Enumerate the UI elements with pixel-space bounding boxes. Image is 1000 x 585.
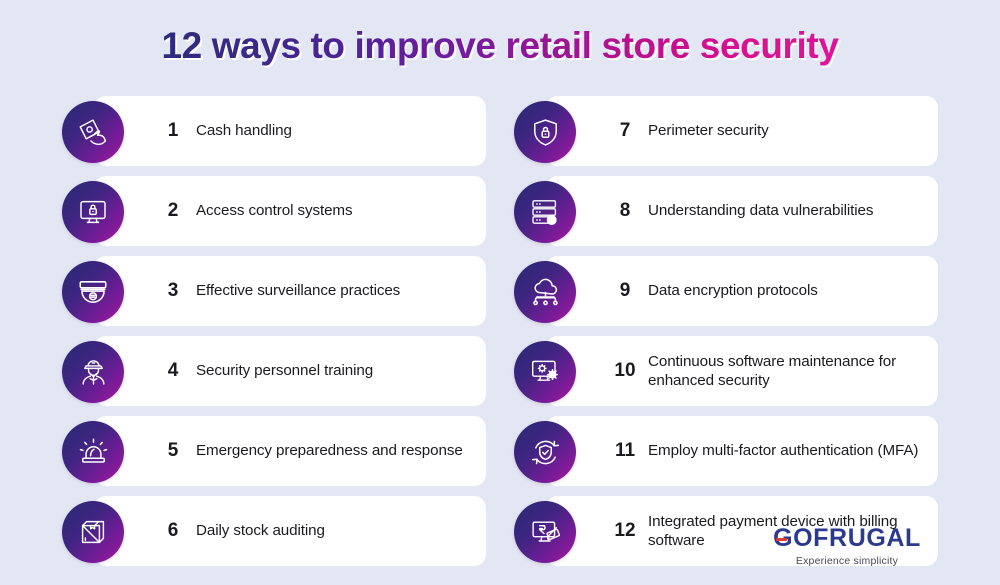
list-item[interactable]: 5Emergency preparedness and response: [62, 416, 486, 486]
list-item-label: Perimeter security: [648, 121, 783, 140]
list-item-number: 6: [150, 520, 196, 542]
list-item[interactable]: 3Effective surveillance practices: [62, 256, 486, 326]
list-item[interactable]: 1Cash handling: [62, 96, 486, 166]
left-column: 1Cash handling 2Access control systems 3…: [62, 96, 486, 566]
list-item-label: Cash handling: [196, 121, 306, 140]
list-item-number: 1: [150, 120, 196, 142]
lists-container: 1Cash handling 2Access control systems 3…: [0, 96, 1000, 566]
list-item-label: Continuous software maintenance for enha…: [648, 352, 938, 391]
list-item[interactable]: 7Perimeter security: [514, 96, 938, 166]
list-item-number: 10: [602, 360, 648, 382]
list-item[interactable]: 2Access control systems: [62, 176, 486, 246]
dome-camera-icon: [62, 261, 124, 323]
list-item-number: 11: [602, 440, 648, 462]
list-item-number: 9: [602, 280, 648, 302]
list-item-label: Emergency preparedness and response: [196, 441, 477, 460]
hand-holding-cash-icon: [62, 101, 124, 163]
lock-refresh-icon: [514, 421, 576, 483]
page-title: 12 ways to improve retail store security: [161, 26, 838, 67]
monitor-lock-icon: [62, 181, 124, 243]
list-item-number: 5: [150, 440, 196, 462]
monitor-gears-icon: [514, 341, 576, 403]
list-item[interactable]: 4Security personnel training: [62, 336, 486, 406]
list-item-number: 7: [602, 120, 648, 142]
list-item-number: 12: [602, 520, 648, 542]
list-item-number: 4: [150, 360, 196, 382]
title-bar: 12 ways to improve retail store security: [0, 0, 1000, 67]
payment-device-icon: [514, 501, 576, 563]
list-item-label: Understanding data vulnerabilities: [648, 201, 887, 220]
list-item-label: Data encryption protocols: [648, 281, 832, 300]
list-item[interactable]: 10Continuous software maintenance for en…: [514, 336, 938, 406]
shield-lock-icon: [514, 101, 576, 163]
list-item-number: 3: [150, 280, 196, 302]
logo-tagline: Experience simplicity: [752, 555, 942, 567]
stock-box-icon: [62, 501, 124, 563]
list-item-label: Daily stock auditing: [196, 521, 339, 540]
list-item-label: Integrated payment device with billing s…: [648, 512, 938, 551]
server-lock-icon: [514, 181, 576, 243]
list-item[interactable]: 9Data encryption protocols: [514, 256, 938, 326]
list-item-label: Employ multi-factor authentication (MFA): [648, 441, 932, 460]
security-guard-icon: [62, 341, 124, 403]
right-column: 7Perimeter security 8Understanding data …: [514, 96, 938, 566]
list-item[interactable]: 8Understanding data vulnerabilities: [514, 176, 938, 246]
list-item[interactable]: 6Daily stock auditing: [62, 496, 486, 566]
list-item-label: Security personnel training: [196, 361, 387, 380]
alarm-siren-icon: [62, 421, 124, 483]
list-item-label: Access control systems: [196, 201, 366, 220]
cloud-network-icon: [514, 261, 576, 323]
list-item-number: 8: [602, 200, 648, 222]
list-item-label: Effective surveillance practices: [196, 281, 414, 300]
list-item[interactable]: 11Employ multi-factor authentication (MF…: [514, 416, 938, 486]
list-item-number: 2: [150, 200, 196, 222]
